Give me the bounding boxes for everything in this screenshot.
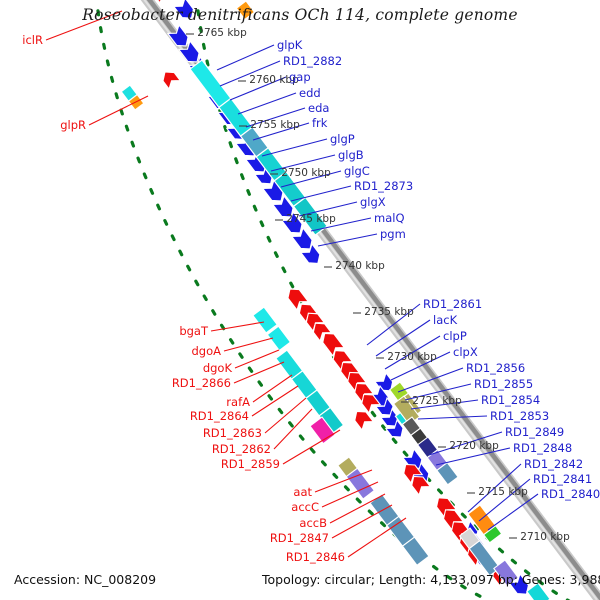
gene-label[interactable]: dgoA (191, 345, 221, 357)
ruler-tick-label: 2750 kbp (281, 167, 330, 179)
label-leader-line (252, 386, 298, 416)
ruler-tick-label: 2720 kbp (449, 440, 498, 452)
ruler-tick-label: 2715 kbp (478, 486, 527, 498)
gene-label[interactable]: RD1_2854 (481, 394, 540, 406)
gene-label[interactable]: glgB (338, 149, 364, 161)
misc-feature-blocks[interactable] (236, 1, 550, 600)
gene-label[interactable]: RD1_2842 (524, 458, 583, 470)
gene-label[interactable]: glpK (277, 39, 302, 51)
page-title: Roseobacter denitrificans OCh 114, compl… (0, 6, 600, 24)
gene-label[interactable]: RD1_2861 (423, 298, 482, 310)
gene-label[interactable]: RD1_2840 (541, 488, 600, 500)
gene-label[interactable]: RD1_2849 (505, 426, 564, 438)
gene-label[interactable]: pgm (380, 228, 406, 240)
gene-label[interactable]: clpP (443, 330, 467, 342)
label-leader-line (274, 409, 312, 449)
label-leader-line (235, 350, 279, 368)
label-leader-line (418, 416, 487, 419)
gene-label[interactable]: RD1_2862 (212, 443, 271, 455)
gene-label[interactable]: accC (291, 501, 319, 513)
gene-label[interactable]: eda (308, 102, 329, 114)
genome-map-viewer[interactable]: Roseobacter denitrificans OCh 114, compl… (0, 0, 600, 600)
gene-label[interactable]: RD1_2873 (354, 180, 413, 192)
gene-label[interactable]: dgoK (203, 362, 232, 374)
ruler-tick-label: 2730 kbp (387, 351, 436, 363)
gene-label[interactable]: gap (289, 71, 311, 83)
ruler-tick-label: 2725 kbp (412, 395, 461, 407)
gene-label[interactable]: edd (299, 87, 321, 99)
gene-label[interactable]: RD1_2848 (513, 442, 572, 454)
accession-text: Accession: NC_008209 (14, 572, 156, 587)
gene-label[interactable]: glgX (360, 196, 386, 208)
gene-label[interactable]: RD1_2864 (190, 410, 249, 422)
gene-label[interactable]: RD1_2853 (490, 410, 549, 422)
label-leader-line (217, 45, 274, 70)
gene-label[interactable]: RD1_2847 (270, 532, 329, 544)
rna-feature-blocks[interactable] (121, 60, 418, 434)
gene-label[interactable]: RD1_2841 (533, 473, 592, 485)
gene-label[interactable]: clpX (453, 346, 478, 358)
gene-label[interactable]: RD1_2856 (466, 362, 525, 374)
gene-label[interactable]: glgP (330, 133, 355, 145)
gene-label[interactable]: RD1_2859 (221, 458, 280, 470)
gene-label[interactable]: glpR (60, 119, 86, 131)
gene-label[interactable]: glgC (344, 165, 370, 177)
ruler-tick-label: 2755 kbp (250, 119, 299, 131)
gene-label[interactable]: rafA (226, 396, 250, 408)
gene-label[interactable]: aat (293, 486, 312, 498)
ruler-tick-label: 2740 kbp (335, 260, 384, 272)
gene-label[interactable]: RD1_2866 (172, 377, 231, 389)
gene-label[interactable]: RD1_2882 (283, 55, 342, 67)
genome-stats-text: Topology: circular; Length: 4,133,097 bp… (262, 572, 600, 587)
label-leader-line (89, 96, 148, 125)
gene-label[interactable]: malQ (374, 212, 405, 224)
ruler-tick-label: 2765 kbp (197, 27, 246, 39)
gene-label[interactable]: lacK (433, 314, 457, 326)
gene-label[interactable]: frk (312, 117, 327, 129)
gene-label[interactable]: iclR (22, 34, 43, 46)
label-leader-line (238, 93, 296, 114)
gene-label[interactable]: bgaT (179, 325, 208, 337)
gene-label[interactable]: RD1_2863 (203, 427, 262, 439)
label-leader-line (262, 139, 327, 156)
label-leader-line (211, 322, 264, 331)
gene-label[interactable]: accB (299, 517, 327, 529)
ruler-tick-label: 2745 kbp (286, 213, 335, 225)
label-leader-line (283, 430, 340, 464)
ruler-tick-label: 2710 kbp (520, 531, 569, 543)
gene-label[interactable]: RD1_2855 (474, 378, 533, 390)
gene-label[interactable]: RD1_2846 (286, 551, 345, 563)
ruler-tick-label: 2735 kbp (364, 306, 413, 318)
